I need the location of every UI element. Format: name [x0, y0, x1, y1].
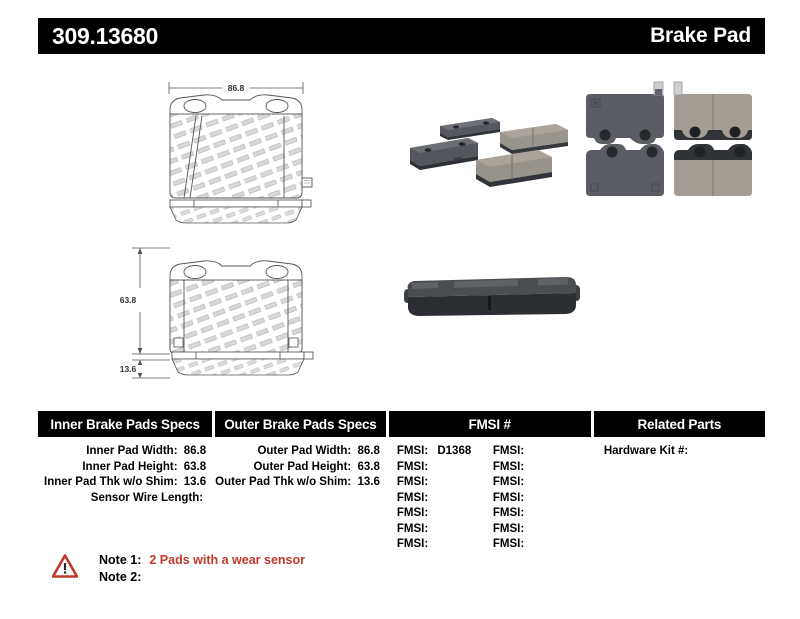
fmsi-row: FMSI:	[397, 460, 493, 476]
spec-row	[215, 491, 386, 507]
fmsi-label: FMSI:	[493, 507, 524, 519]
table-header-inner-specs: Inner Brake Pads Specs	[38, 411, 212, 437]
spec-row: Outer Pad Width: 86.8	[215, 444, 386, 460]
fmsi-row: FMSI:	[493, 491, 589, 507]
note-row-2: Note 2:	[99, 569, 305, 586]
fmsi-label: FMSI:	[493, 461, 524, 473]
fmsi-row: FMSI:	[493, 444, 589, 460]
specs-table: Inner Brake Pads Specs Outer Brake Pads …	[38, 411, 765, 553]
fmsi-column-left: FMSI: D1368 FMSI: FMSI: FMSI:	[397, 444, 493, 553]
spec-label: Inner Pad Thk w/o Shim:	[44, 476, 178, 488]
spec-label: Outer Pad Thk w/o Shim:	[215, 476, 351, 488]
outer-specs-cell: Outer Pad Width: 86.8 Outer Pad Height: …	[215, 444, 386, 553]
brake-pad-edge-photo	[398, 263, 584, 325]
spec-label: Inner Pad Width:	[86, 445, 177, 457]
spec-row: Outer Pad Height: 63.8	[215, 460, 386, 476]
inner-pad-front-edge-view	[168, 350, 348, 382]
spec-label: Inner Pad Height:	[82, 461, 177, 473]
drawing-area: 86.8	[0, 58, 800, 388]
spec-value: 13.6	[184, 476, 206, 488]
inner-pad-top-edge-view	[160, 198, 330, 230]
fmsi-cell: FMSI: D1368 FMSI: FMSI: FMSI:	[389, 444, 591, 553]
brake-pads-angled-photo	[396, 96, 578, 196]
front-view-thickness-dimension-label: 13.6	[120, 364, 137, 374]
title-bar: 309.13680 Brake Pad	[38, 18, 765, 54]
fmsi-row: FMSI:	[397, 506, 493, 522]
product-type: Brake Pad	[650, 24, 751, 48]
fmsi-row: FMSI:	[397, 475, 493, 491]
warning-triangle-icon	[52, 554, 78, 578]
spec-value: 63.8	[357, 461, 379, 473]
fmsi-row: FMSI:	[397, 491, 493, 507]
brake-pads-flat-photo	[578, 80, 760, 208]
note-2-label: Note 2:	[99, 569, 141, 586]
table-header-fmsi: FMSI #	[389, 411, 591, 437]
spec-row: Inner Pad Height: 63.8	[38, 460, 212, 476]
spec-row: Inner Pad Width: 86.8	[38, 444, 212, 460]
fmsi-row: FMSI:	[493, 475, 589, 491]
notes-text-group: Note 1: 2 Pads with a wear sensor Note 2…	[99, 552, 305, 586]
fmsi-value: D1368	[437, 445, 471, 457]
table-header-outer-specs: Outer Brake Pads Specs	[215, 411, 385, 437]
fmsi-label: FMSI:	[493, 445, 524, 457]
inner-specs-cell: Inner Pad Width: 86.8 Inner Pad Height: …	[38, 444, 212, 553]
fmsi-label: FMSI:	[397, 523, 428, 535]
fmsi-row: FMSI:	[397, 537, 493, 553]
fmsi-row: FMSI:	[493, 460, 589, 476]
fmsi-row: FMSI:	[493, 522, 589, 538]
table-header-row: Inner Brake Pads Specs Outer Brake Pads …	[38, 411, 765, 437]
spec-row: Outer Pad Thk w/o Shim: 13.6	[215, 475, 386, 491]
fmsi-label: FMSI:	[493, 538, 524, 550]
fmsi-label: FMSI:	[493, 476, 524, 488]
front-view-height-dimension-label: 63.8	[120, 295, 137, 305]
spec-value: 86.8	[357, 445, 379, 457]
related-parts-cell: Hardware Kit #:	[594, 444, 765, 553]
fmsi-label: FMSI:	[397, 538, 428, 550]
spec-label: Outer Pad Height:	[253, 461, 351, 473]
note-1-label: Note 1:	[99, 552, 141, 569]
related-parts-row: Hardware Kit #:	[594, 444, 765, 460]
fmsi-row: FMSI:	[493, 506, 589, 522]
spec-label: Sensor Wire Length:	[91, 492, 203, 504]
related-parts-label: Hardware Kit #:	[604, 445, 688, 457]
fmsi-row: FMSI: D1368	[397, 444, 493, 460]
fmsi-row: FMSI:	[493, 537, 589, 553]
fmsi-label: FMSI:	[493, 523, 524, 535]
spec-label: Outer Pad Width:	[257, 445, 351, 457]
note-1-value: 2 Pads with a wear sensor	[149, 552, 305, 569]
table-header-related-parts: Related Parts	[594, 411, 765, 437]
table-body-row: Inner Pad Width: 86.8 Inner Pad Height: …	[38, 437, 765, 553]
top-view-width-dimension-label: 86.8	[228, 83, 245, 93]
fmsi-column-right: FMSI: FMSI: FMSI: FMSI:	[493, 444, 589, 553]
spec-row: Inner Pad Thk w/o Shim: 13.6	[38, 475, 212, 491]
fmsi-row: FMSI:	[397, 522, 493, 538]
spec-value: 86.8	[184, 445, 206, 457]
notes-section: Note 1: 2 Pads with a wear sensor Note 2…	[52, 552, 305, 586]
fmsi-label: FMSI:	[397, 476, 428, 488]
spec-value: 63.8	[184, 461, 206, 473]
fmsi-label: FMSI:	[397, 492, 428, 504]
fmsi-label: FMSI:	[397, 445, 428, 457]
fmsi-label: FMSI:	[397, 461, 428, 473]
note-row-1: Note 1: 2 Pads with a wear sensor	[99, 552, 305, 569]
fmsi-label: FMSI:	[397, 507, 428, 519]
spec-row: Sensor Wire Length:	[38, 491, 212, 507]
spec-value: 13.6	[357, 476, 379, 488]
part-number: 309.13680	[52, 23, 158, 50]
fmsi-label: FMSI:	[493, 492, 524, 504]
